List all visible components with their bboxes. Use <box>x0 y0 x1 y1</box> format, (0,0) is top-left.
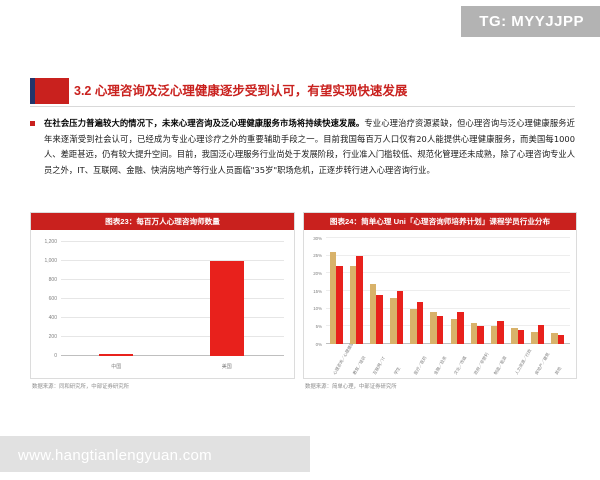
y-axis-tick-label: 5% <box>306 324 322 329</box>
bar <box>397 291 404 344</box>
y-axis-tick-label: 20% <box>306 271 322 276</box>
x-axis-tick-label: 医疗／医药 <box>413 355 428 376</box>
chart-24-title: 图表24：简单心理 Uni「心理咨询师培养计划」课程学员行业分布 <box>304 213 576 230</box>
y-axis-tick-label: 800 <box>35 277 57 283</box>
x-axis-line <box>61 355 284 356</box>
y-axis-tick-label: 15% <box>306 289 322 294</box>
gridline <box>61 260 284 261</box>
y-axis-tick-label: 0% <box>306 342 322 347</box>
x-axis-tick-label: 人力资源／行政 <box>513 348 533 376</box>
chart-24: 图表24：简单心理 Uni「心理咨询师培养计划」课程学员行业分布 0%5%10%… <box>303 212 577 379</box>
bar <box>356 256 363 344</box>
x-axis-tick-label: 金融／投资 <box>433 355 448 376</box>
bar <box>518 330 525 344</box>
gridline <box>61 241 284 242</box>
bar <box>538 325 545 344</box>
x-axis-tick-label: 互联网／IT <box>372 356 387 376</box>
x-axis-tick-label: 美国 <box>207 363 247 370</box>
gridline <box>61 298 284 299</box>
x-axis-tick-label: 教育／培训 <box>352 355 367 376</box>
y-axis-tick-label: 30% <box>306 236 322 241</box>
y-axis-tick-label: 1,000 <box>35 258 57 264</box>
bar <box>477 326 484 344</box>
y-axis-tick-label: 25% <box>306 253 322 258</box>
x-axis-tick-label: 学生 <box>392 366 401 376</box>
y-axis-tick-label: 600 <box>35 296 57 302</box>
y-axis-tick-label: 0 <box>35 353 57 359</box>
bar <box>376 295 383 344</box>
body-paragraph: 在社会压力普遍较大的情况下，未来心理咨询及泛心理健康服务市场将持续快速发展。专业… <box>44 116 575 178</box>
x-axis-tick-label: 政府／非营利 <box>473 352 490 376</box>
page-title: 3.2 心理咨询及泛心理健康逐步受到认可，有望实现快速发展 <box>74 80 407 99</box>
telegram-watermark-badge: TG: MYYJJPP <box>461 6 600 37</box>
body-paragraph-block: 在社会压力普遍较大的情况下，未来心理咨询及泛心理健康服务市场将持续快速发展。专业… <box>30 116 575 178</box>
bottom-watermark-url: www.hangtianlengyuan.com <box>18 447 212 464</box>
section-heading: 3.2 心理咨询及泛心理健康逐步受到认可，有望实现快速发展 <box>30 78 575 104</box>
chart-24-plot: 0%5%10%15%20%25%30%心理咨询／心理健康教育／培训互联网／IT学… <box>304 230 576 378</box>
bar <box>210 261 244 356</box>
bar <box>336 266 343 344</box>
paragraph-lead: 在社会压力普遍较大的情况下，未来心理咨询及泛心理健康服务市场将持续快速发展。 <box>44 118 364 128</box>
chart-24-source: 数据来源：简单心理，中部证券研究所 <box>305 382 397 390</box>
bar <box>558 335 565 344</box>
y-axis-tick-label: 10% <box>306 306 322 311</box>
bar <box>497 321 504 344</box>
x-axis-tick-label: 中国 <box>96 363 136 370</box>
chart-23-plot: 02004006008001,0001,200中国美国 <box>31 230 294 378</box>
gridline <box>61 317 284 318</box>
heading-divider <box>30 106 575 107</box>
bullet-icon <box>30 121 35 126</box>
bar <box>417 302 424 344</box>
x-axis-tick-label: 其他 <box>554 366 563 376</box>
bar <box>437 316 444 344</box>
bar <box>457 312 464 344</box>
gridline <box>61 279 284 280</box>
x-axis-tick-label: 房地产／建筑 <box>534 352 551 376</box>
charts-area: 图表23：每百万人心理咨询师数量 02004006008001,0001,200… <box>30 212 575 388</box>
y-axis-tick-label: 1,200 <box>35 239 57 245</box>
chart-23-title: 图表23：每百万人心理咨询师数量 <box>31 213 294 230</box>
y-axis-tick-label: 200 <box>35 334 57 340</box>
x-axis-tick-label: 文化／传媒 <box>453 355 468 376</box>
gridline <box>326 237 570 238</box>
y-axis-tick-label: 400 <box>35 315 57 321</box>
chart-23: 图表23：每百万人心理咨询师数量 02004006008001,0001,200… <box>30 212 295 379</box>
heading-marker-icon <box>30 78 69 104</box>
bar <box>99 354 133 356</box>
slide-page: TG: MYYJJPP 3.2 心理咨询及泛心理健康逐步受到认可，有望实现快速发… <box>0 0 600 480</box>
x-axis-tick-label: 制造／能源 <box>493 355 508 376</box>
chart-23-source: 数据来源：同和研究所，中部证券研究所 <box>32 382 129 390</box>
gridline <box>61 336 284 337</box>
